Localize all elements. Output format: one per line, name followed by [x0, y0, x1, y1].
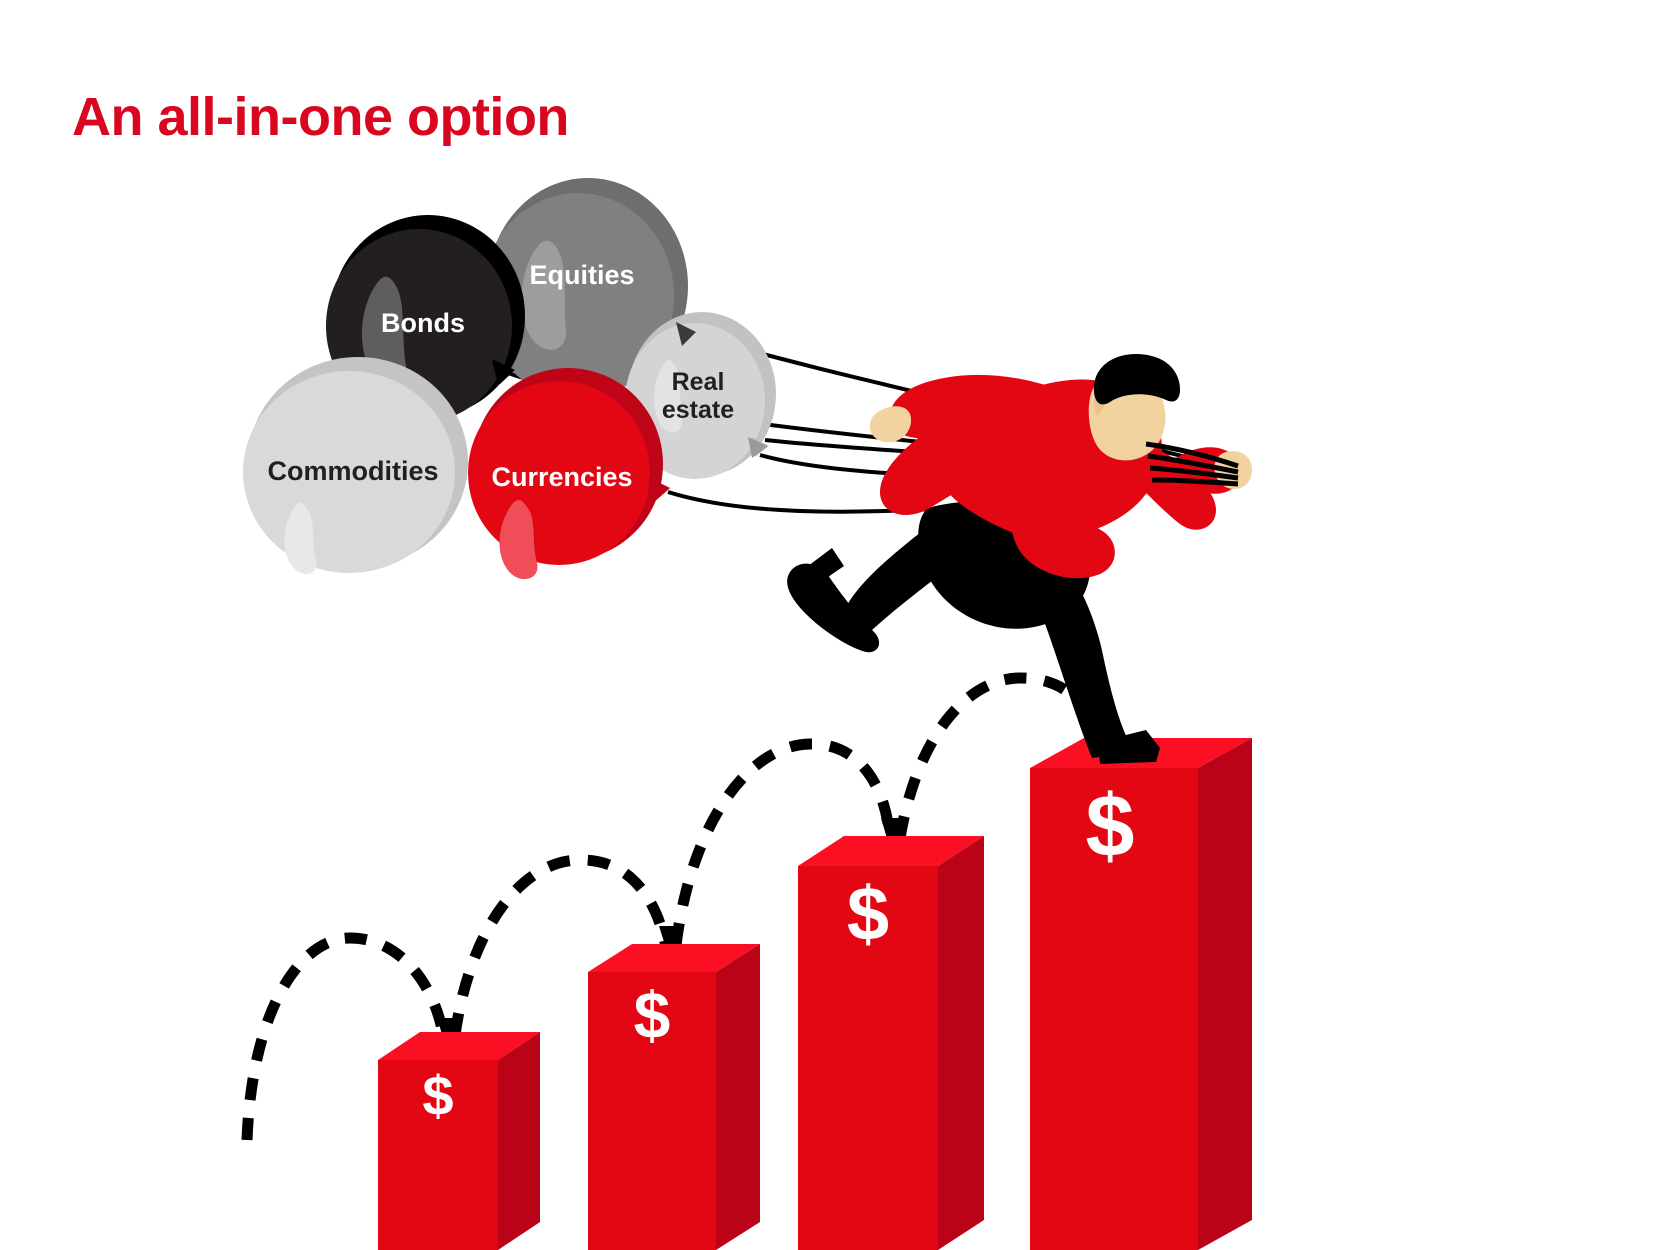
bar-4-side	[1198, 738, 1252, 1250]
illustration-graphic: Equities Bonds Real estate Commodities C…	[0, 0, 1667, 1250]
bar-column-1[interactable]: $	[378, 1032, 540, 1250]
bar-1-side	[498, 1032, 540, 1250]
runner-figure	[787, 354, 1252, 764]
bar-1-value-label: $	[422, 1064, 453, 1127]
balloon-commodities-body	[243, 371, 455, 573]
bar-2-value-label: $	[634, 978, 671, 1052]
bar-column-4[interactable]: $	[1030, 738, 1252, 1250]
runner-left-hand	[870, 406, 911, 442]
slide-canvas: An all-in-one option	[0, 0, 1667, 1250]
bar-2-side	[716, 944, 760, 1250]
bar-column-3[interactable]: $	[798, 836, 984, 1250]
bar-4-value-label: $	[1086, 776, 1135, 875]
balloon-currencies-body	[468, 381, 650, 565]
bar-column-2[interactable]: $	[588, 944, 760, 1250]
bar-3-side	[938, 836, 984, 1250]
bar-3-value-label: $	[847, 872, 889, 957]
balloon-commodities[interactable]	[243, 357, 468, 574]
